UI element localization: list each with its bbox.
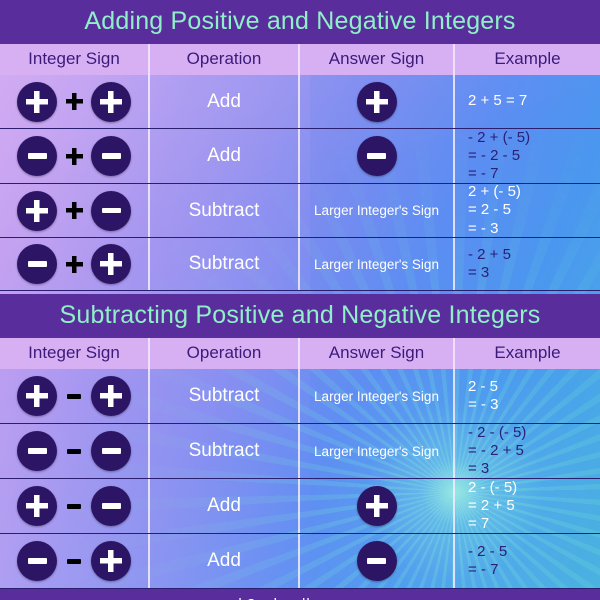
section-title-1: Adding Positive and Negative Integers [0, 0, 600, 44]
column-header-1: Integer Sign [0, 338, 150, 369]
plus-icon [366, 91, 388, 113]
operator-symbol [57, 148, 91, 165]
plus-icon [100, 253, 122, 275]
example-expression: 2 - (- 5) = 2 + 5 = 7 [455, 479, 517, 534]
positive-sign-badge [91, 376, 131, 416]
positive-sign-badge [91, 82, 131, 122]
answer-sign-cell [300, 534, 455, 588]
minus-icon [102, 153, 121, 159]
table-row: SubtractLarger Integer's Sign2 + (- 5) =… [0, 184, 600, 238]
integer-sign-cell [0, 238, 150, 290]
plus-icon [66, 148, 83, 165]
table-header-row: Integer SignOperationAnswer SignExample [0, 44, 600, 75]
operation-label: Subtract [189, 253, 260, 275]
column-header-3: Answer Sign [300, 44, 455, 75]
negative-sign-badge [17, 541, 57, 581]
column-header-4: Example [455, 44, 600, 75]
example-cell: 2 + 5 = 7 [455, 75, 600, 128]
operation-cell: Subtract [150, 424, 300, 478]
minus-icon [67, 449, 81, 454]
answer-sign-label: Larger Integer's Sign [314, 444, 439, 459]
plus-icon [66, 256, 83, 273]
positive-sign-badge [91, 541, 131, 581]
column-header-4: Example [455, 338, 600, 369]
positive-sign-badge [91, 244, 131, 284]
example-cell: 2 - (- 5) = 2 + 5 = 7 [455, 479, 600, 533]
table-row: SubtractLarger Integer's Sign- 2 + 5 = 3 [0, 238, 600, 291]
plus-icon [366, 495, 388, 517]
operation-label: Add [207, 495, 241, 517]
example-expression: - 2 + 5 = 3 [455, 246, 511, 283]
example-expression: 2 + (- 5) = 2 - 5 = - 3 [455, 183, 521, 238]
infographic-poster: Adding Positive and Negative IntegersInt… [0, 0, 600, 600]
example-cell: 2 + (- 5) = 2 - 5 = - 3 [455, 184, 600, 237]
column-header-1: Integer Sign [0, 44, 150, 75]
operator-symbol [57, 504, 91, 509]
operation-cell: Add [150, 75, 300, 128]
operation-label: Add [207, 145, 241, 167]
negative-sign-badge [91, 136, 131, 176]
table-row: Add2 - (- 5) = 2 + 5 = 7 [0, 479, 600, 534]
footer-website[interactable]: www.k8schoollessons.com [0, 589, 600, 600]
minus-icon [102, 503, 121, 509]
answer-sign-label: Larger Integer's Sign [314, 257, 439, 272]
operation-cell: Subtract [150, 238, 300, 290]
operation-label: Subtract [189, 440, 260, 462]
operator-symbol [57, 559, 91, 564]
operation-label: Subtract [189, 200, 260, 222]
negative-sign-badge [91, 191, 131, 231]
table-row: Add2 + 5 = 7 [0, 75, 600, 129]
minus-icon [67, 394, 81, 399]
plus-icon [100, 550, 122, 572]
positive-sign-badge [17, 82, 57, 122]
minus-icon [67, 559, 81, 564]
integer-sign-cell [0, 129, 150, 183]
minus-icon [367, 153, 386, 159]
example-cell: 2 - 5 = - 3 [455, 369, 600, 423]
example-expression: - 2 - (- 5) = - 2 + 5 = 3 [455, 424, 526, 479]
answer-sign-cell [300, 129, 455, 183]
negative-sign-badge [357, 541, 397, 581]
operation-cell: Subtract [150, 184, 300, 237]
table-row: SubtractLarger Integer's Sign- 2 - (- 5)… [0, 424, 600, 479]
poster-content: Adding Positive and Negative IntegersInt… [0, 0, 600, 600]
answer-sign-cell: Larger Integer's Sign [300, 369, 455, 423]
minus-icon [28, 448, 47, 454]
negative-sign-badge [17, 431, 57, 471]
plus-icon [26, 495, 48, 517]
example-expression: - 2 + (- 5) = - 2 - 5 = - 7 [455, 129, 530, 184]
minus-icon [102, 208, 121, 214]
negative-sign-badge [91, 431, 131, 471]
plus-icon [26, 91, 48, 113]
answer-sign-cell: Larger Integer's Sign [300, 184, 455, 237]
table-header-row: Integer SignOperationAnswer SignExample [0, 338, 600, 369]
column-header-2: Operation [150, 338, 300, 369]
plus-icon [66, 202, 83, 219]
negative-sign-badge [17, 136, 57, 176]
minus-icon [367, 558, 386, 564]
plus-icon [26, 385, 48, 407]
integer-sign-cell [0, 479, 150, 533]
example-expression: 2 - 5 = - 3 [455, 378, 498, 415]
minus-icon [102, 448, 121, 454]
operator-symbol [57, 256, 91, 273]
operation-cell: Add [150, 129, 300, 183]
plus-icon [26, 200, 48, 222]
operation-label: Add [207, 550, 241, 572]
integer-sign-cell [0, 75, 150, 128]
table-row: SubtractLarger Integer's Sign2 - 5 = - 3 [0, 369, 600, 424]
minus-icon [67, 504, 81, 509]
minus-icon [28, 153, 47, 159]
positive-sign-badge [357, 82, 397, 122]
negative-sign-badge [17, 244, 57, 284]
example-expression: - 2 - 5 = - 7 [455, 543, 507, 580]
plus-icon [66, 93, 83, 110]
operator-symbol [57, 449, 91, 454]
positive-sign-badge [357, 486, 397, 526]
table-row: Add- 2 + (- 5) = - 2 - 5 = - 7 [0, 129, 600, 184]
plus-icon [100, 385, 122, 407]
minus-icon [28, 261, 47, 267]
answer-sign-label: Larger Integer's Sign [314, 203, 439, 218]
negative-sign-badge [91, 486, 131, 526]
integer-sign-cell [0, 534, 150, 588]
answer-sign-cell [300, 479, 455, 533]
plus-icon [100, 91, 122, 113]
answer-sign-cell [300, 75, 455, 128]
negative-sign-badge [357, 136, 397, 176]
section-title-2: Subtracting Positive and Negative Intege… [0, 294, 600, 338]
answer-sign-cell: Larger Integer's Sign [300, 424, 455, 478]
operation-cell: Add [150, 534, 300, 588]
positive-sign-badge [17, 191, 57, 231]
operation-cell: Add [150, 479, 300, 533]
operator-symbol [57, 202, 91, 219]
integer-sign-cell [0, 184, 150, 237]
positive-sign-badge [17, 376, 57, 416]
example-cell: - 2 - (- 5) = - 2 + 5 = 3 [455, 424, 600, 478]
minus-icon [28, 558, 47, 564]
answer-sign-label: Larger Integer's Sign [314, 389, 439, 404]
example-cell: - 2 - 5 = - 7 [455, 534, 600, 588]
answer-sign-cell: Larger Integer's Sign [300, 238, 455, 290]
example-cell: - 2 + (- 5) = - 2 - 5 = - 7 [455, 129, 600, 183]
integer-sign-cell [0, 424, 150, 478]
table-row: Add- 2 - 5 = - 7 [0, 534, 600, 589]
operation-cell: Subtract [150, 369, 300, 423]
operation-label: Add [207, 91, 241, 113]
example-cell: - 2 + 5 = 3 [455, 238, 600, 290]
example-expression: 2 + 5 = 7 [455, 92, 527, 110]
column-header-2: Operation [150, 44, 300, 75]
operation-label: Subtract [189, 385, 260, 407]
column-header-3: Answer Sign [300, 338, 455, 369]
positive-sign-badge [17, 486, 57, 526]
integer-sign-cell [0, 369, 150, 423]
operator-symbol [57, 93, 91, 110]
operator-symbol [57, 394, 91, 399]
